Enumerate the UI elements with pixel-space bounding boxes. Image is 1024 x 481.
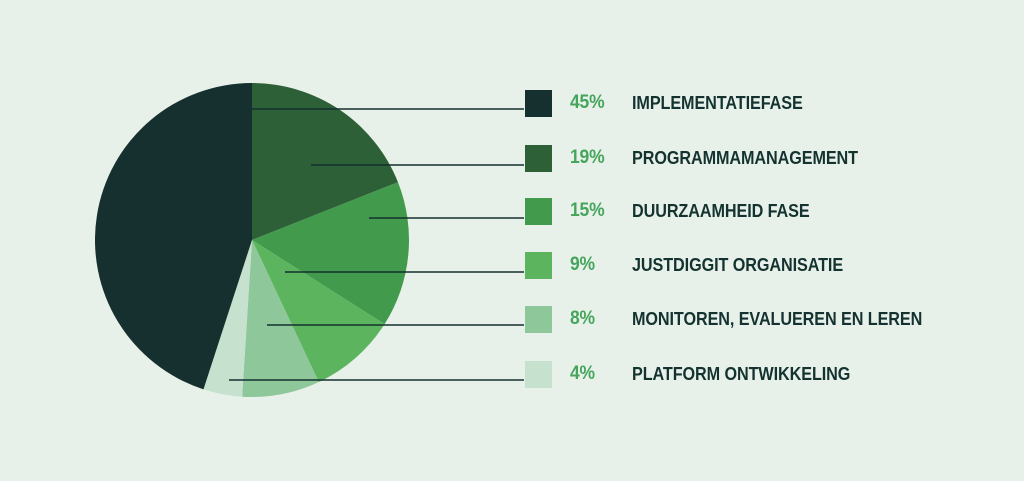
legend-color-swatch bbox=[525, 145, 552, 172]
legend-color-swatch bbox=[525, 198, 552, 225]
legend-label: DUURZAAMHEID FASE bbox=[632, 201, 810, 222]
legend-percentage: 45% bbox=[570, 92, 627, 114]
pie-chart-svg bbox=[95, 83, 409, 397]
legend-percentage: 19% bbox=[570, 147, 627, 169]
legend-percentage: 4% bbox=[570, 363, 627, 385]
legend-item[interactable]: 19%PROGRAMMAMANAGEMENT bbox=[525, 143, 883, 173]
legend-label: PLATFORM ONTWIKKELING bbox=[632, 364, 850, 385]
pie-chart bbox=[95, 83, 409, 397]
legend-item[interactable]: 8%MONITOREN, EVALUEREN EN LEREN bbox=[525, 304, 954, 334]
legend-label: IMPLEMENTATIEFASE bbox=[632, 93, 803, 114]
legend-label: JUSTDIGGIT ORGANISATIE bbox=[632, 255, 843, 276]
legend-color-swatch bbox=[525, 361, 552, 388]
pie-slice-group bbox=[95, 83, 409, 397]
legend-color-swatch bbox=[525, 306, 552, 333]
pie-chart-infographic: 45%IMPLEMENTATIEFASE19%PROGRAMMAMANAGEME… bbox=[0, 0, 1024, 481]
legend-item[interactable]: 4%PLATFORM ONTWIKKELING bbox=[525, 359, 875, 389]
legend-color-swatch bbox=[525, 90, 552, 117]
legend-label: PROGRAMMAMANAGEMENT bbox=[632, 148, 858, 169]
legend-item[interactable]: 45%IMPLEMENTATIEFASE bbox=[525, 88, 822, 118]
legend-percentage: 9% bbox=[570, 254, 627, 276]
legend-percentage: 15% bbox=[570, 200, 627, 222]
legend-color-swatch bbox=[525, 252, 552, 279]
legend-percentage: 8% bbox=[570, 308, 627, 330]
legend-label: MONITOREN, EVALUEREN EN LEREN bbox=[632, 309, 922, 330]
legend-item[interactable]: 15%DUURZAAMHEID FASE bbox=[525, 196, 829, 226]
legend-item[interactable]: 9%JUSTDIGGIT ORGANISATIE bbox=[525, 250, 866, 280]
